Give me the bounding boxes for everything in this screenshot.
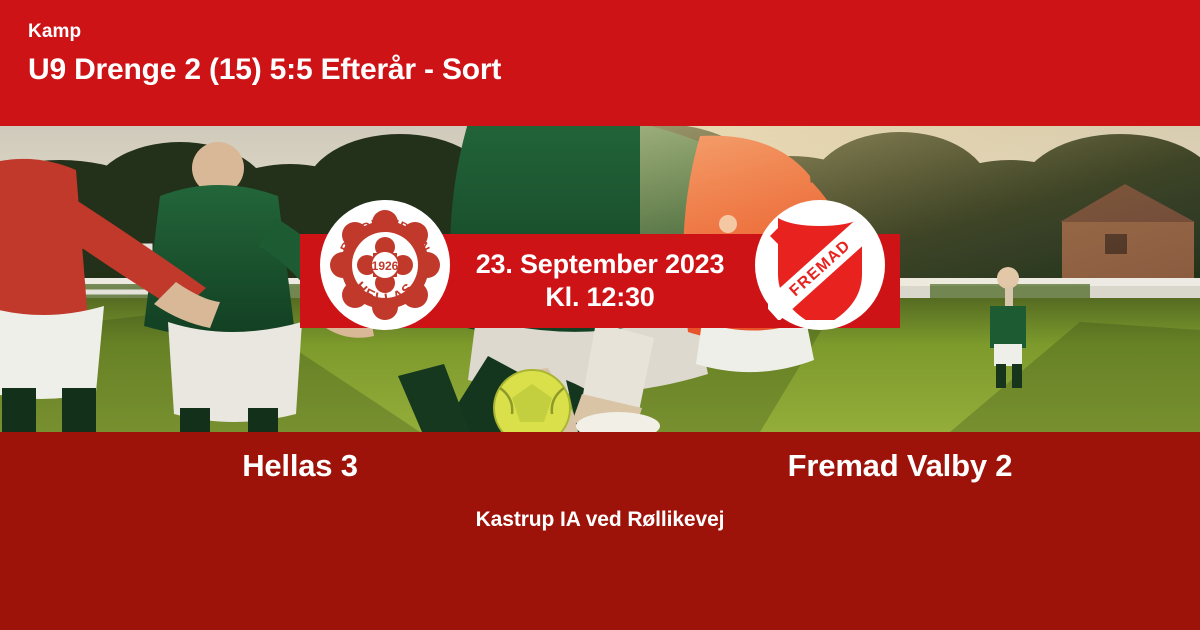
match-date: 23. September 2023 <box>476 248 725 281</box>
team-names-row: Hellas 3 Fremad Valby 2 <box>0 446 1200 486</box>
header-kicker: Kamp <box>28 20 1200 44</box>
match-venue: Kastrup IA ved Røllikevej <box>0 506 1200 534</box>
home-crest-badge: 1926 BOLDKLUBBEN HELLAS <box>320 200 450 330</box>
hellas-year-text: 1926 <box>372 259 399 273</box>
match-summary-band: Hellas 3 Fremad Valby 2 Kastrup IA ved R… <box>0 432 1200 630</box>
hellas-crest-icon: 1926 BOLDKLUBBEN HELLAS <box>329 209 441 321</box>
away-crest-badge: FREMAD <box>755 200 885 330</box>
match-time: Kl. 12:30 <box>545 281 654 314</box>
home-team-name: Hellas 3 <box>0 446 600 486</box>
header-bar: Kamp U9 Drenge 2 (15) 5:5 Efterår - Sort <box>0 0 1200 126</box>
away-team-name: Fremad Valby 2 <box>600 446 1200 486</box>
match-announcement-card: Kamp U9 Drenge 2 (15) 5:5 Efterår - Sort <box>0 0 1200 630</box>
page-title: U9 Drenge 2 (15) 5:5 Efterår - Sort <box>28 50 1200 90</box>
fremad-valby-crest-icon: FREMAD <box>768 210 872 320</box>
